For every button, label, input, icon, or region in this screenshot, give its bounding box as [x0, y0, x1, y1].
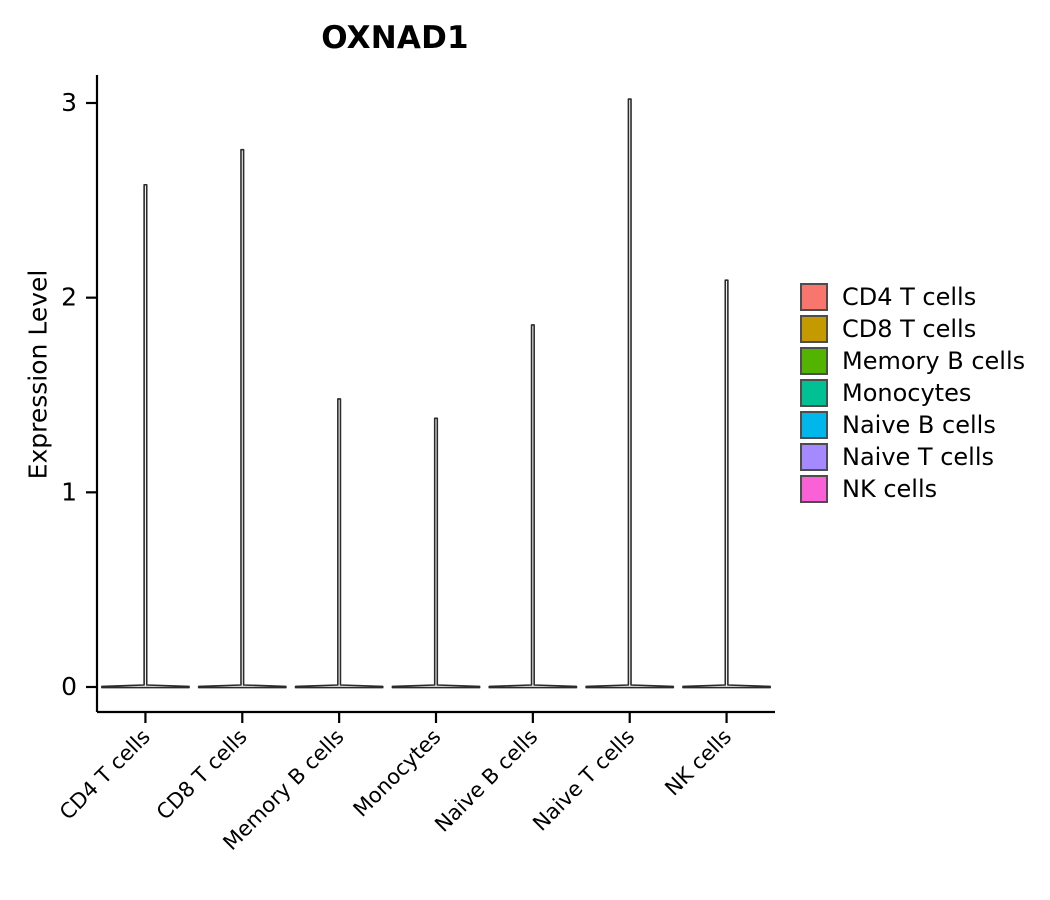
legend-item-label: Memory B cells: [842, 349, 1025, 373]
y-tick-label: 3: [61, 88, 77, 117]
y-tick-label: 2: [61, 283, 77, 312]
violin-cd4-t-cells: [102, 185, 189, 688]
legend-item[interactable]: Naive T cells: [800, 441, 1040, 473]
legend-item-label: Naive T cells: [842, 445, 994, 469]
legend-item-label: NK cells: [842, 477, 937, 501]
legend-item[interactable]: Naive B cells: [800, 409, 1040, 441]
violin-monocytes: [392, 418, 479, 687]
legend-color-swatch: [800, 443, 828, 471]
legend-item-label: Naive B cells: [842, 413, 996, 437]
x-tick-label: CD8 T cells: [152, 725, 252, 825]
legend-color-swatch: [800, 315, 828, 343]
legend-color-swatch: [800, 475, 828, 503]
legend-item[interactable]: CD4 T cells: [800, 281, 1040, 313]
x-tick-label: Naive B cells: [430, 725, 542, 837]
x-axis-labels: CD4 T cellsCD8 T cellsMemory B cellsMono…: [55, 725, 736, 855]
legend-item[interactable]: CD8 T cells: [800, 313, 1040, 345]
violin-series-group: [102, 99, 770, 687]
legend-color-swatch: [800, 283, 828, 311]
legend: CD4 T cellsCD8 T cellsMemory B cellsMono…: [800, 281, 1040, 505]
x-tick-label: Naive T cells: [528, 725, 639, 836]
y-axis-ticks: 0123: [61, 88, 97, 701]
legend-item-label: CD4 T cells: [842, 285, 976, 309]
legend-color-swatch: [800, 379, 828, 407]
x-tick-label: CD4 T cells: [55, 725, 155, 825]
legend-item[interactable]: NK cells: [800, 473, 1040, 505]
x-tick-label: NK cells: [660, 725, 736, 801]
legend-item[interactable]: Monocytes: [800, 377, 1040, 409]
x-axis-ticks: [145, 712, 726, 723]
y-tick-label: 0: [61, 672, 77, 701]
violin-cd8-t-cells: [199, 150, 286, 688]
violin-naive-b-cells: [489, 325, 576, 688]
legend-color-swatch: [800, 347, 828, 375]
violin-plot-figure: OXNAD1 Expression Level 0123 CD4 T cells…: [0, 0, 1050, 900]
violin-naive-t-cells: [586, 99, 673, 687]
violin-nk-cells: [683, 280, 770, 687]
violin-memory-b-cells: [296, 399, 383, 688]
legend-item-label: CD8 T cells: [842, 317, 976, 341]
y-tick-label: 1: [61, 477, 77, 506]
x-tick-label: Monocytes: [349, 725, 446, 822]
legend-item[interactable]: Memory B cells: [800, 345, 1040, 377]
legend-color-swatch: [800, 411, 828, 439]
legend-item-label: Monocytes: [842, 381, 971, 405]
